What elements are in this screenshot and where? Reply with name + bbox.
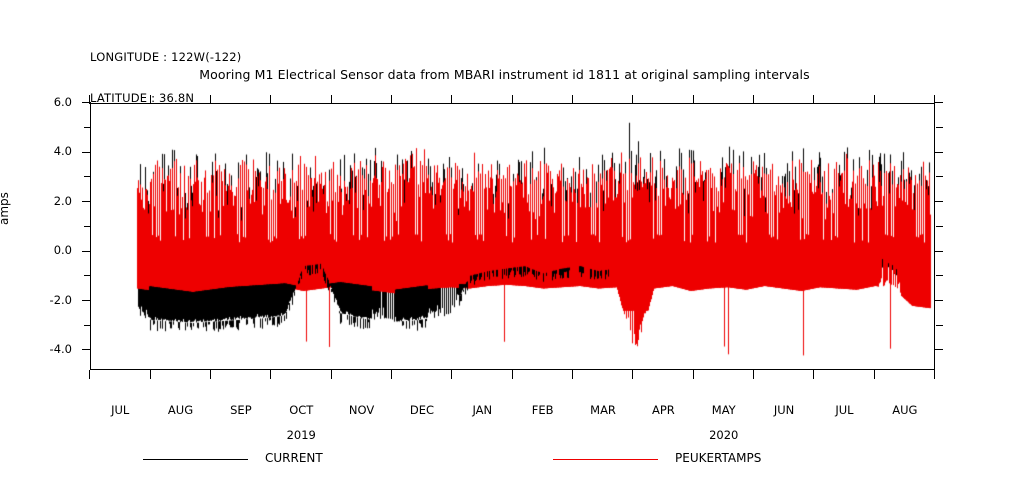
y-axis-minor-tick [936,275,943,276]
x-axis-tick [753,370,754,379]
chart-legend: CURRENTPEUKERTAMPS [0,450,1009,474]
x-axis-tick-label: AUG [151,403,211,417]
y-axis-label: amps [0,192,11,225]
x-axis-tick [693,370,694,379]
x-axis-tick [512,370,513,379]
y-axis-minor-tick [936,325,943,326]
x-axis-tick-label: APR [633,403,693,417]
y-axis-minor-tick [936,226,943,227]
x-axis-tick [632,370,633,379]
x-axis-tick-label: FEB [513,403,573,417]
x-axis-year-label: 2020 [664,428,784,442]
longitude-text: LONGITUDE : 122W(-122) [90,51,242,65]
legend-swatch [143,459,248,460]
x-axis-tick [150,370,151,379]
x-axis-tick [391,370,392,379]
y-axis-tick [934,201,943,202]
y-axis-tick-label: 6.0 [30,95,72,109]
x-axis-tick [874,370,875,379]
y-axis-minor-tick [936,176,943,177]
x-axis-tick [89,370,90,379]
y-axis-tick-label: -4.0 [30,342,72,356]
y-axis-tick-label: -2.0 [30,293,72,307]
x-axis-tick [572,370,573,379]
y-axis-tick [934,251,943,252]
y-axis-minor-tick [936,127,943,128]
y-axis-tick-label: 2.0 [30,194,72,208]
legend-swatch [553,459,658,460]
x-axis-tick-label: MAR [573,403,633,417]
legend-label: CURRENT [265,451,323,465]
chart-plot-area [90,103,935,370]
x-axis-tick-label: SEP [211,403,271,417]
y-axis-tick-label: 4.0 [30,144,72,158]
x-axis-tick [210,370,211,379]
y-axis-tick [934,152,943,153]
legend-label: PEUKERTAMPS [675,451,761,465]
x-axis-tick [331,370,332,379]
x-axis-tick-label: JAN [452,403,512,417]
x-axis-tick-label: JUN [754,403,814,417]
x-axis-tick [813,370,814,379]
x-axis-tick-label: OCT [271,403,331,417]
x-axis-tick-label: DEC [392,403,452,417]
x-axis-tick-label: JUL [814,403,874,417]
x-axis-tick-label: AUG [875,403,935,417]
x-axis-tick [270,370,271,379]
x-axis-tick [934,370,935,379]
y-axis-tick [934,300,943,301]
y-axis-tick-label: 0.0 [30,243,72,257]
x-axis-year-label: 2019 [241,428,361,442]
y-axis-tick [934,102,943,103]
x-axis-tick-label: MAY [694,403,754,417]
y-axis-tick [934,349,943,350]
x-axis-tick-label: NOV [332,403,392,417]
chart-title: Mooring M1 Electrical Sensor data from M… [0,67,1009,82]
x-axis-tick [451,370,452,379]
x-axis-tick-label: JUL [90,403,150,417]
